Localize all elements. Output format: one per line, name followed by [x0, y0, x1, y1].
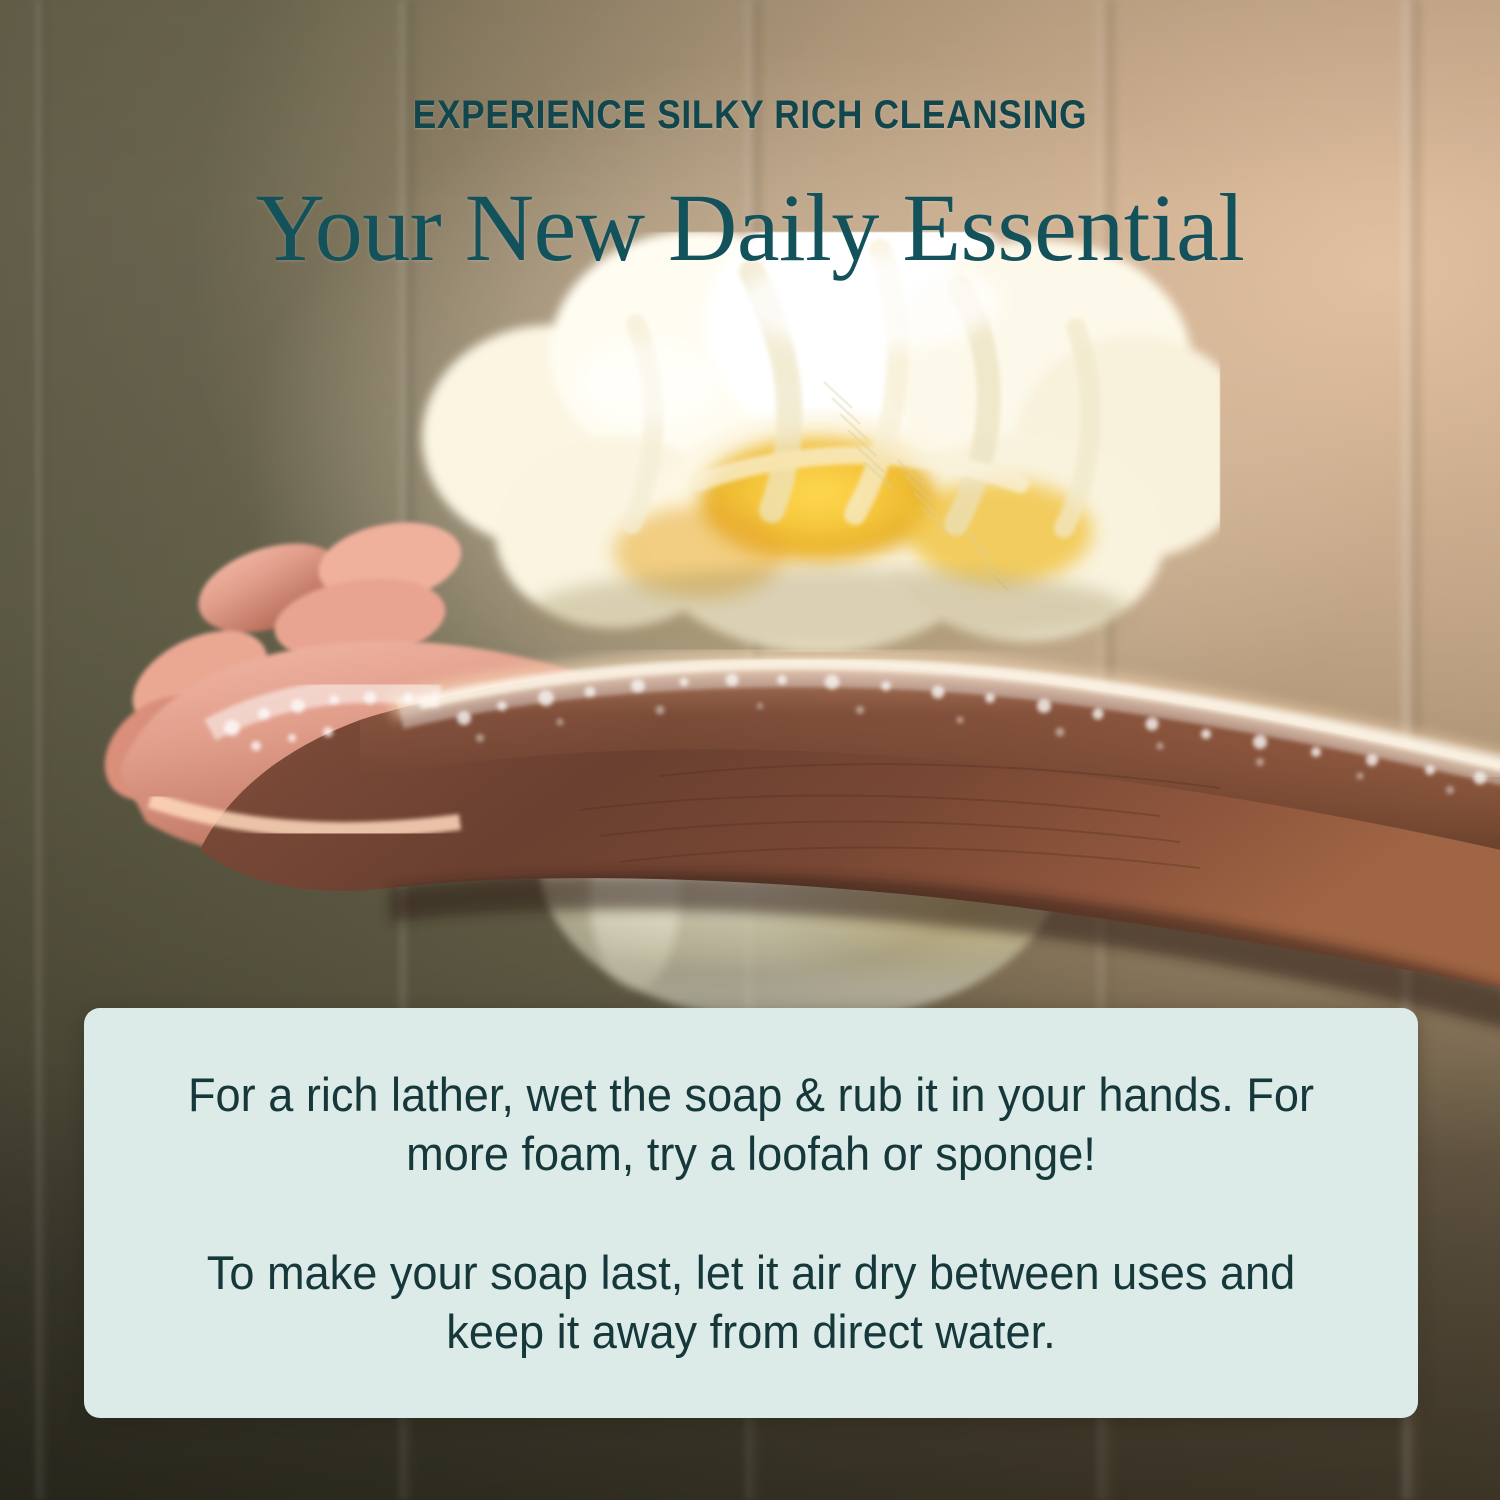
- instruction-paragraph-1: For a rich lather, wet the soap & rub it…: [155, 1065, 1347, 1183]
- eyebrow-headline: EXPERIENCE SILKY RICH CLEANSING: [90, 93, 1410, 138]
- instruction-paragraph-2: To make your soap last, let it air dry b…: [155, 1243, 1347, 1361]
- usage-instructions-panel: For a rich lather, wet the soap & rub it…: [84, 1008, 1418, 1418]
- page-title: Your New Daily Essential: [0, 178, 1500, 279]
- product-lifestyle-banner: EXPERIENCE SILKY RICH CLEANSING Your New…: [0, 0, 1500, 1500]
